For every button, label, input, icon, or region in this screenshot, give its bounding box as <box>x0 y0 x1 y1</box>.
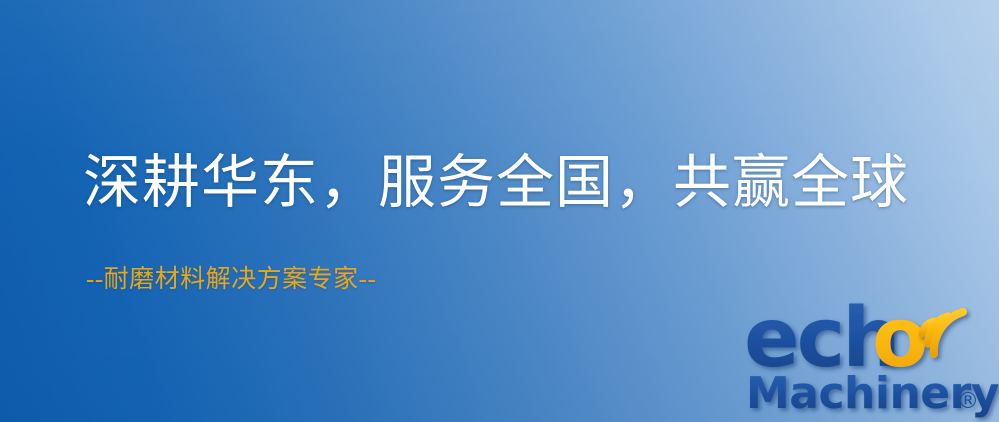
banner-subtitle: --耐磨材料解决方案专家-- <box>86 265 376 295</box>
signal-arcs-icon <box>922 312 963 354</box>
echo-machinery-logo[interactable]: ech o Machinery ® <box>744 296 996 418</box>
promo-banner: 深耕华东，服务全国，共赢全球 --耐磨材料解决方案专家-- <box>0 0 999 422</box>
registered-trademark-icon: ® <box>957 389 979 414</box>
page-title: 深耕华东，服务全国，共赢全球 <box>83 151 909 216</box>
